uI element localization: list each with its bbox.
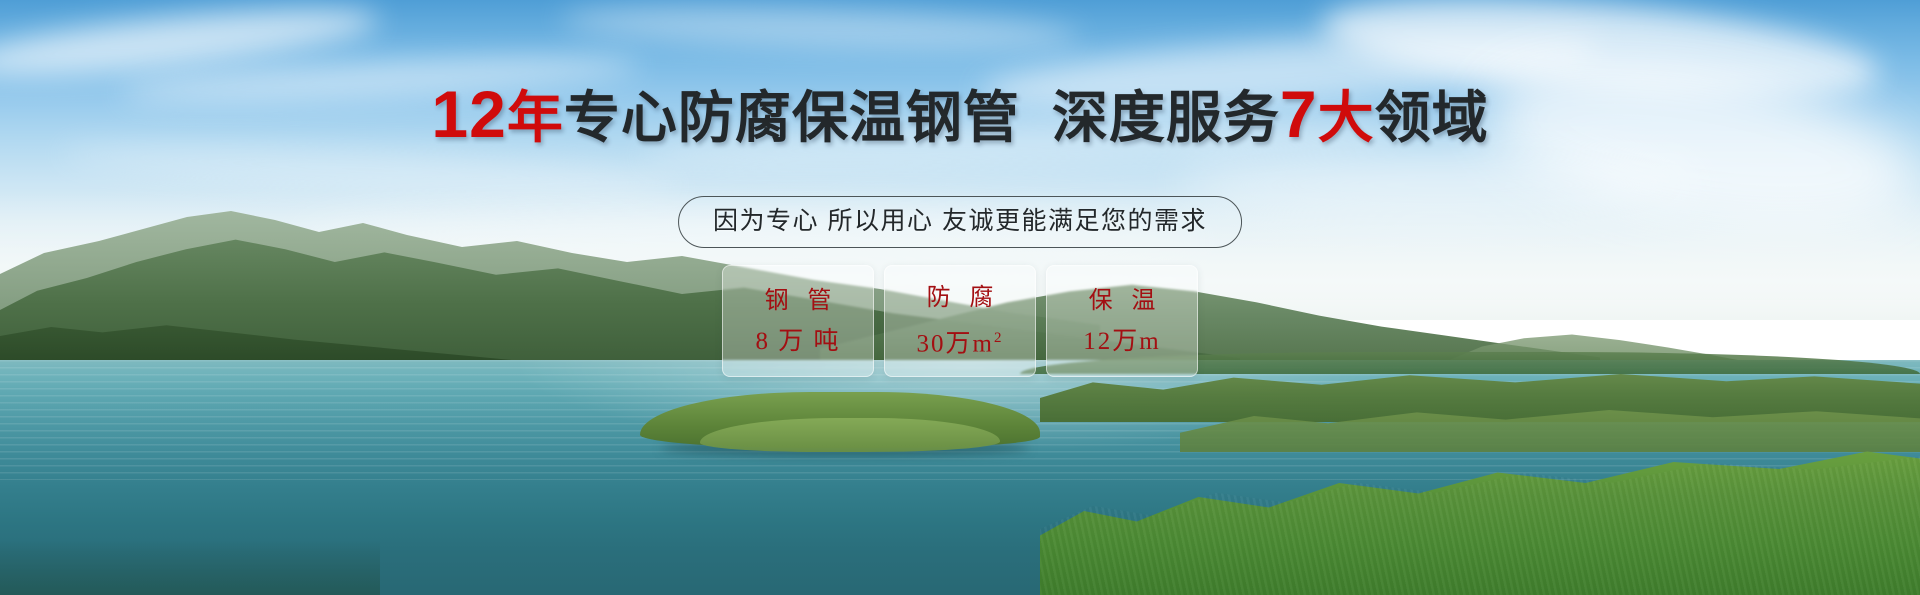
headline-fields-unit: 大 [1318, 86, 1375, 149]
headline-years-unit: 年 [507, 86, 564, 149]
stat-card-value-superscript: 2 [994, 330, 1004, 346]
headline-service-text: 深度服务 [1052, 86, 1280, 149]
stat-card-insulation[interactable]: 保 温 12万m [1046, 265, 1198, 377]
left-shore-shadow [0, 540, 380, 595]
stat-card-value-text: 30万m [917, 330, 994, 357]
promo-banner: 12年专心防腐保温钢管深度服务7大领域 因为专心 所以用心 友诚更能满足您的需求… [0, 0, 1920, 595]
headline-fields-number: 7 [1280, 77, 1318, 151]
stat-card-group: 钢 管 8 万 吨 防 腐 30万m2 保 温 12万m [722, 265, 1198, 377]
headline-main-text: 专心防腐保温钢管 [564, 86, 1020, 149]
stat-card-value-text: 12万m [1083, 328, 1160, 355]
headline-fields-text: 领域 [1375, 86, 1489, 149]
stat-card-title: 防 腐 [921, 285, 1000, 311]
stat-card-value-text: 8 万 吨 [755, 328, 840, 355]
headline-years-number: 12 [431, 77, 506, 151]
stat-card-value: 8 万 吨 [755, 328, 840, 355]
stat-card-value: 12万m [1083, 328, 1160, 355]
stat-card-title: 保 温 [1083, 288, 1162, 314]
stat-card-value: 30万m2 [917, 325, 1004, 357]
stat-card-title: 钢 管 [759, 288, 838, 314]
banner-subtitle-pill: 因为专心 所以用心 友诚更能满足您的需求 [678, 196, 1242, 248]
banner-headline: 12年专心防腐保温钢管深度服务7大领域 [0, 82, 1920, 150]
stat-card-steel-pipe[interactable]: 钢 管 8 万 吨 [722, 265, 874, 377]
stat-card-anticorrosion[interactable]: 防 腐 30万m2 [884, 265, 1036, 377]
